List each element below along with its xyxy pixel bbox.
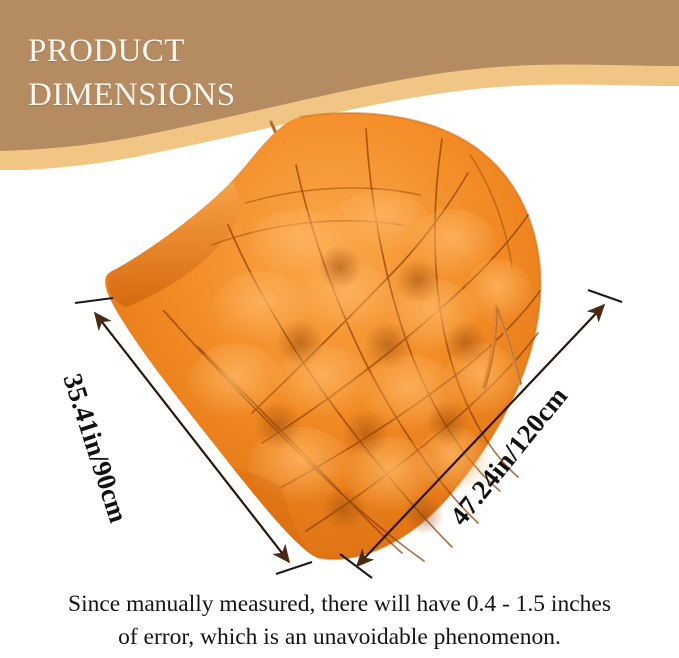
product-image: [0, 95, 679, 585]
measurement-disclaimer: Since manually measured, there will have…: [0, 588, 679, 655]
cushion-illustration: [0, 95, 679, 585]
disclaimer-line-2: of error, which is an unavoidable phenom…: [14, 621, 665, 654]
disclaimer-line-1: Since manually measured, there will have…: [14, 588, 665, 621]
product-dimensions-graphic: PRODUCT DIMENSIONS: [0, 0, 679, 658]
